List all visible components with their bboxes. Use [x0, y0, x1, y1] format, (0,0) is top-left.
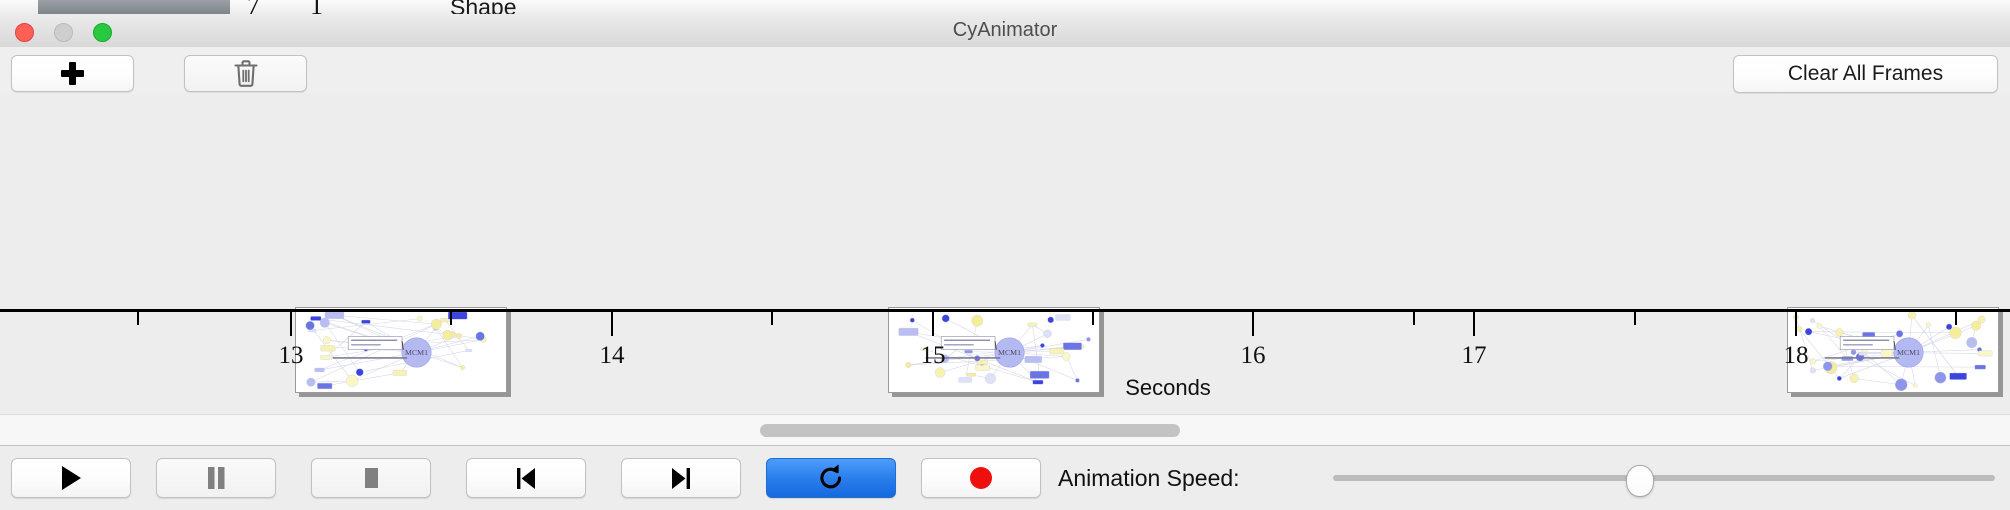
transport-bar: Animation Speed: — [0, 446, 2010, 510]
ruler-tick-label: 16 — [1241, 342, 1266, 370]
ruler-tick-label: 14 — [600, 342, 625, 370]
axis-title-label: Seconds — [1125, 375, 1211, 400]
stop-icon — [358, 464, 384, 492]
timeline-scrollbar-thumb[interactable] — [760, 424, 1180, 437]
clear-all-frames-button[interactable]: Clear All Frames — [1733, 55, 1998, 93]
ruler-tick — [137, 312, 139, 325]
plus-icon — [60, 61, 85, 86]
delete-frame-button[interactable] — [184, 55, 307, 92]
ruler-tick — [611, 312, 613, 336]
previous-frame-button[interactable] — [466, 458, 586, 498]
cyanimator-window: 7 1 Shape CyAnimator Clear All Frames MC — [0, 0, 2010, 510]
timeline-panel[interactable]: MCM1MCM1MCM1 2131415161718 Seconds — [0, 94, 2010, 414]
background-label-shape: Shape — [450, 0, 517, 14]
ruler-tick — [1634, 312, 1636, 325]
ruler-tick — [1473, 312, 1475, 336]
slider-thumb[interactable] — [1626, 465, 1654, 497]
ruler-tick — [290, 312, 292, 336]
play-icon — [58, 464, 84, 492]
stop-button[interactable] — [311, 458, 431, 498]
clear-all-frames-label: Clear All Frames — [1788, 62, 1943, 86]
timeline-scrollbar[interactable] — [0, 414, 2010, 446]
ruler-tick — [1252, 312, 1254, 336]
timeline-frame[interactable]: MCM1 — [295, 307, 507, 393]
network-graph-thumbnail: MCM1 — [889, 308, 1099, 392]
title-bar: CyAnimator — [0, 14, 2010, 48]
loop-icon — [816, 463, 846, 493]
record-button[interactable] — [921, 458, 1041, 498]
skip-forward-icon — [667, 464, 695, 492]
next-frame-button[interactable] — [621, 458, 741, 498]
slider-track — [1333, 475, 1995, 481]
pause-icon — [203, 464, 229, 492]
pause-button[interactable] — [156, 458, 276, 498]
trash-icon — [233, 59, 259, 89]
timeline-frame[interactable]: MCM1 — [1787, 307, 1999, 393]
network-graph-thumbnail: MCM1 — [296, 308, 506, 392]
background-desktop-strip: 7 1 Shape — [0, 0, 2010, 14]
background-glyph-2: 1 — [310, 0, 323, 14]
loop-button[interactable] — [766, 458, 896, 498]
timeline-frame[interactable]: MCM1 — [888, 307, 1100, 393]
window-title: CyAnimator — [0, 14, 2010, 47]
animation-speed-label: Animation Speed: — [1058, 458, 1240, 498]
ruler-tick-label: 17 — [1462, 342, 1487, 370]
ruler-tick — [771, 312, 773, 325]
svg-text:MCM1: MCM1 — [998, 348, 1021, 357]
toolbar: Clear All Frames — [0, 47, 2010, 95]
skip-back-icon — [512, 464, 540, 492]
add-frame-button[interactable] — [11, 55, 134, 92]
animation-speed-slider[interactable] — [1333, 458, 1995, 498]
ruler-tick — [1413, 312, 1415, 325]
svg-text:MCM1: MCM1 — [1897, 348, 1920, 357]
network-graph-thumbnail: MCM1 — [1788, 308, 1998, 392]
record-icon — [968, 465, 994, 491]
svg-text:MCM1: MCM1 — [405, 348, 428, 357]
play-button[interactable] — [11, 458, 131, 498]
background-glyph-1: 7 — [247, 0, 260, 14]
